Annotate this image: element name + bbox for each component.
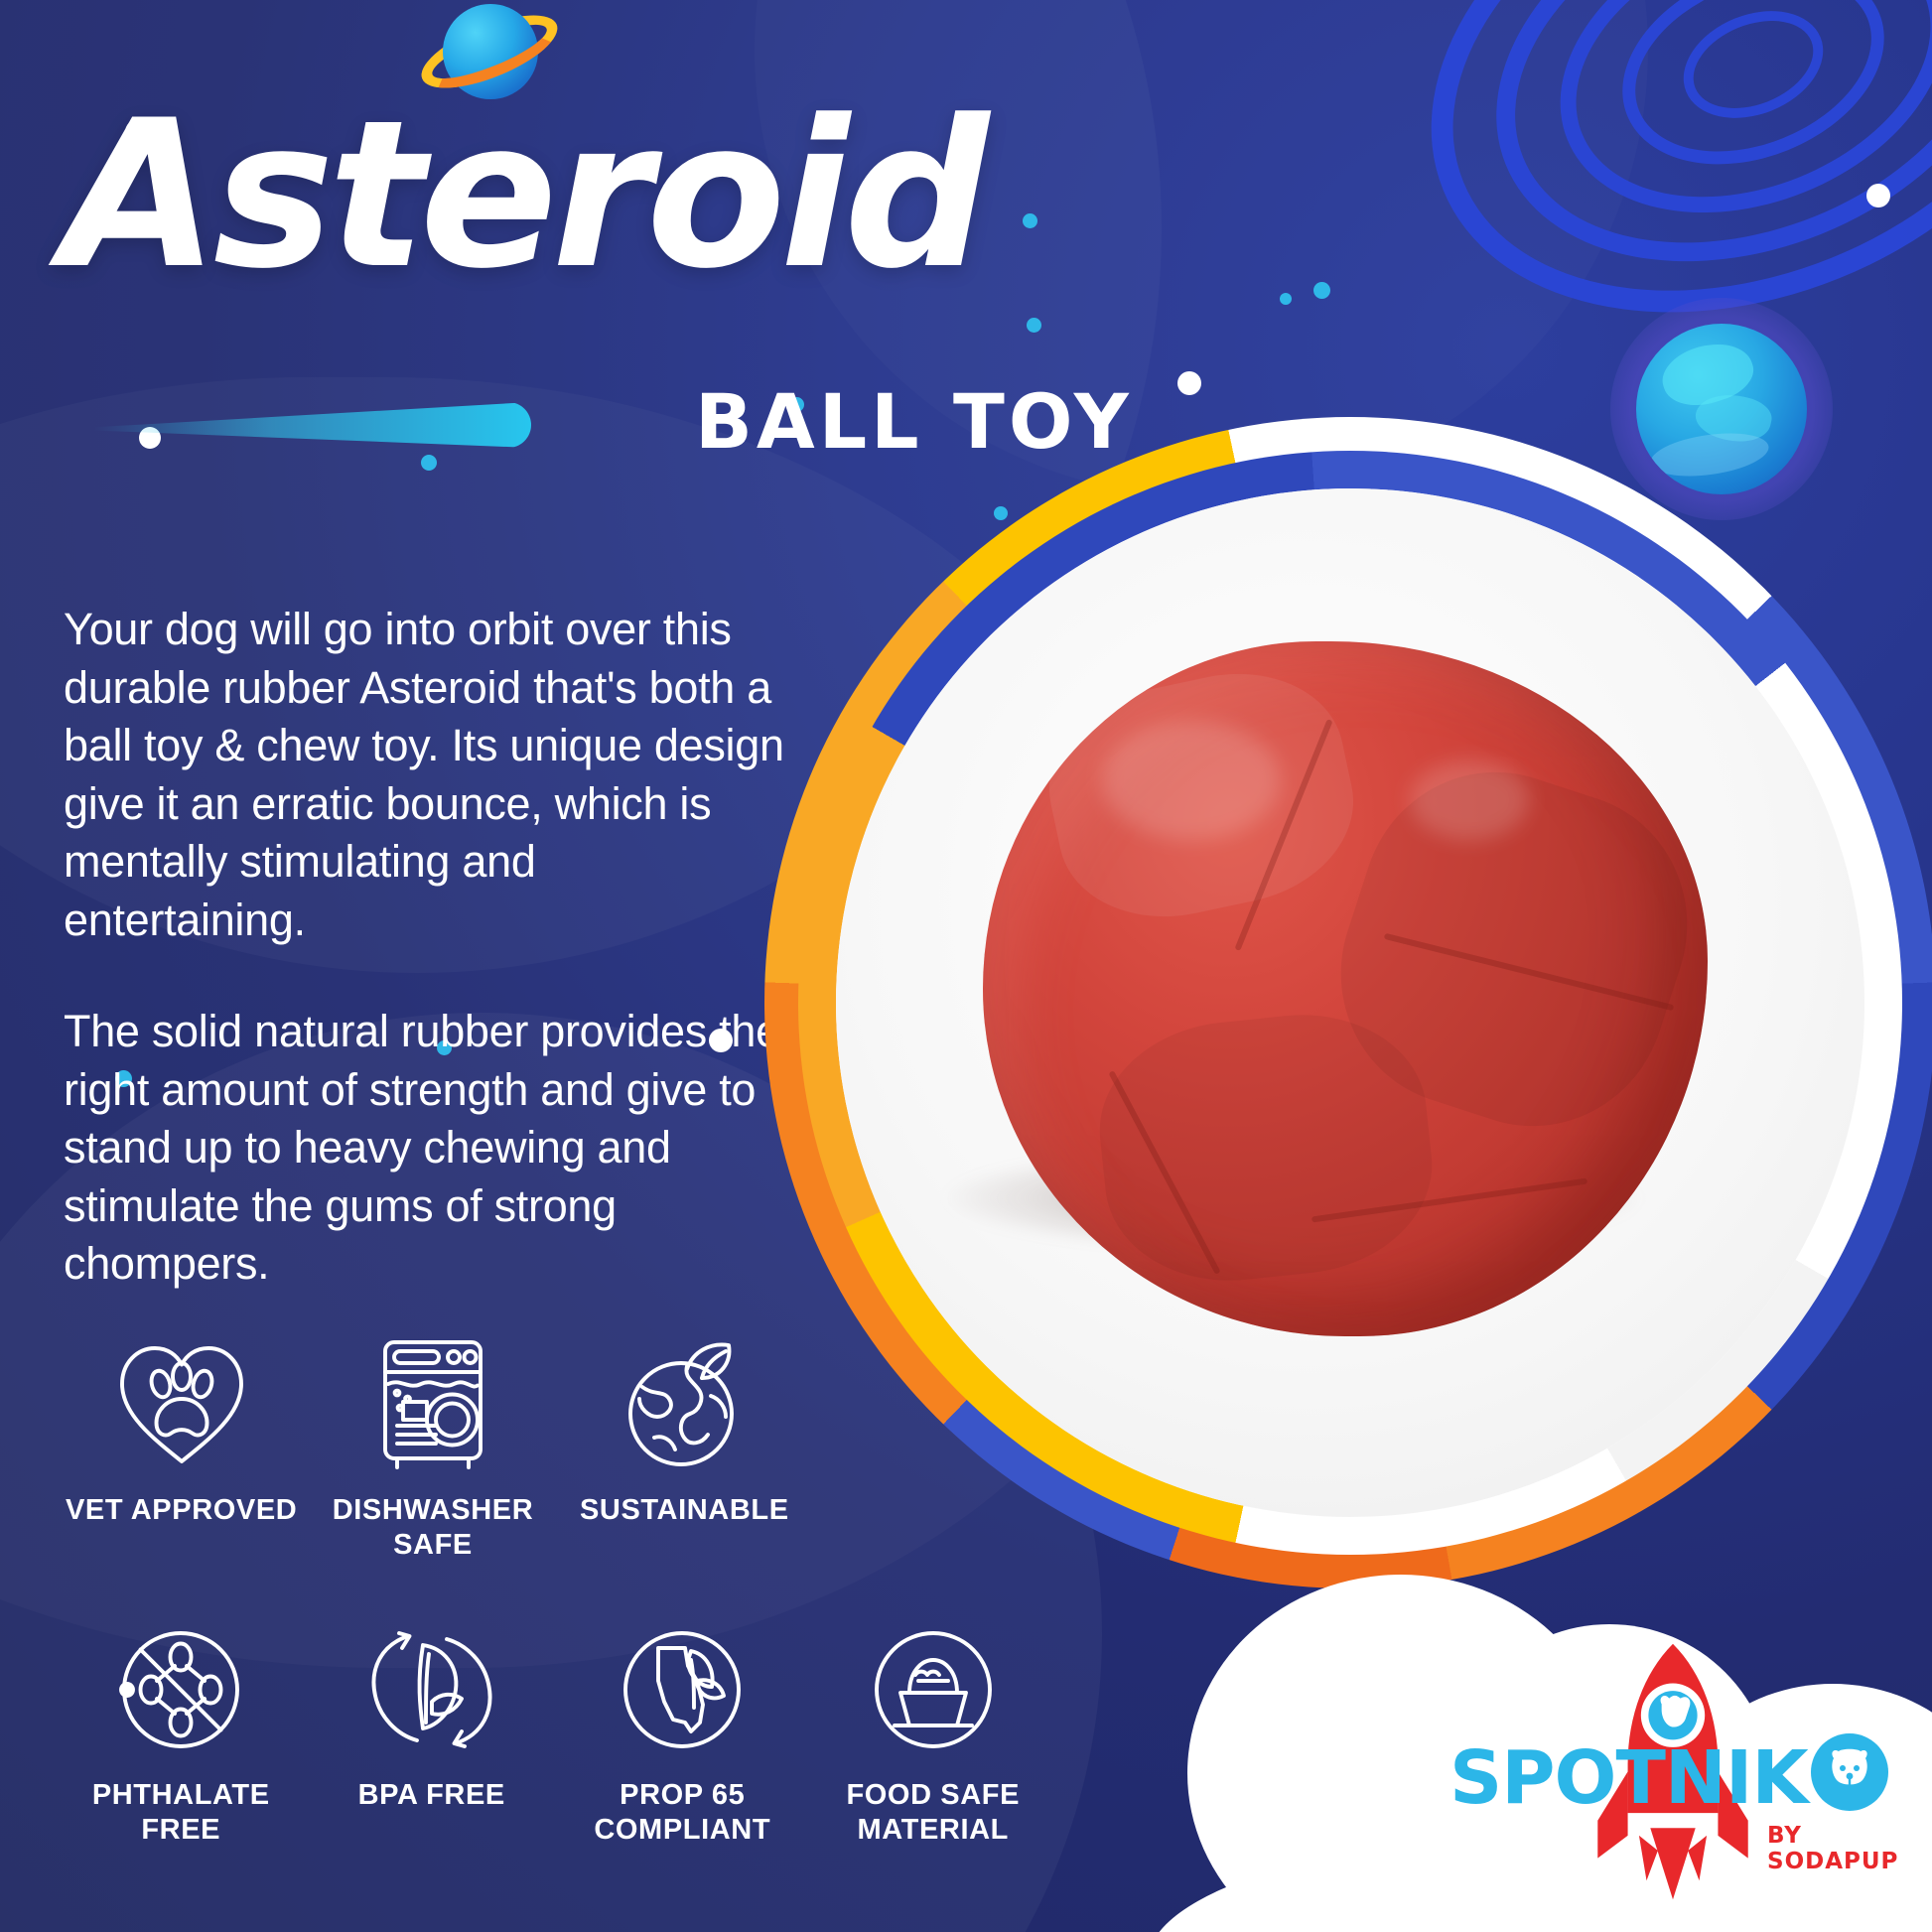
brand-logo: SPOTNIK BY SODAPUP (1440, 1648, 1906, 1916)
globe-leaf-icon (610, 1330, 759, 1479)
infographic-canvas: Asteroid BALL TOY Your dog will go into … (0, 0, 1932, 1932)
leaf-recycle-icon (357, 1615, 506, 1764)
dog-bowl-icon (859, 1615, 1008, 1764)
page-title: Asteroid (62, 94, 1054, 298)
california-leaf-icon (608, 1615, 757, 1764)
feature-label: SUSTAINABLE (580, 1493, 789, 1528)
feature-label: PHTHALATEFREE (92, 1778, 270, 1849)
molecule-slash-icon (106, 1615, 255, 1764)
star-dot (1027, 318, 1041, 333)
dog-face-icon (1811, 1733, 1888, 1811)
asteroid-ball (983, 641, 1708, 1336)
heart-paw-icon (107, 1330, 256, 1479)
dishwasher-icon (358, 1330, 507, 1479)
feature-dishwasher-safe: DISHWASHER SAFE (307, 1330, 558, 1564)
feature-label: VET APPROVED (66, 1493, 297, 1528)
star-dot (1177, 371, 1201, 395)
star-dot (1280, 293, 1292, 305)
description-paragraph-1: Your dog will go into orbit over this du… (64, 601, 788, 949)
feature-phthalate-free: PHTHALATEFREE (56, 1615, 307, 1849)
star-dot (421, 455, 437, 471)
description-paragraph-2: The solid natural rubber provides the ri… (64, 1003, 788, 1294)
feature-row-2: PHTHALATEFREE BPA FREE (56, 1615, 1058, 1849)
feature-label: FOOD SAFEMATERIAL (846, 1778, 1020, 1849)
feature-sustainable: SUSTAINABLE (559, 1330, 810, 1564)
feature-prop-65-compliant: PROP 65COMPLIANT (557, 1615, 808, 1849)
feature-row-1: VET APPROVED (56, 1330, 810, 1564)
feature-bpa-free: BPA FREE (307, 1615, 558, 1849)
star-dot (1313, 282, 1330, 299)
feature-food-safe-material: FOOD SAFEMATERIAL (808, 1615, 1059, 1849)
star-dot (1866, 184, 1890, 207)
comet-streak-icon (94, 402, 531, 448)
feature-label: DISHWASHER SAFE (307, 1493, 558, 1564)
feature-badges: VET APPROVED (56, 1330, 1108, 1849)
feature-label: PROP 65COMPLIANT (594, 1778, 770, 1849)
feature-vet-approved: VET APPROVED (56, 1330, 307, 1564)
feature-label: BPA FREE (358, 1778, 505, 1813)
logo-tagline: BY SODAPUP (1767, 1823, 1906, 1874)
